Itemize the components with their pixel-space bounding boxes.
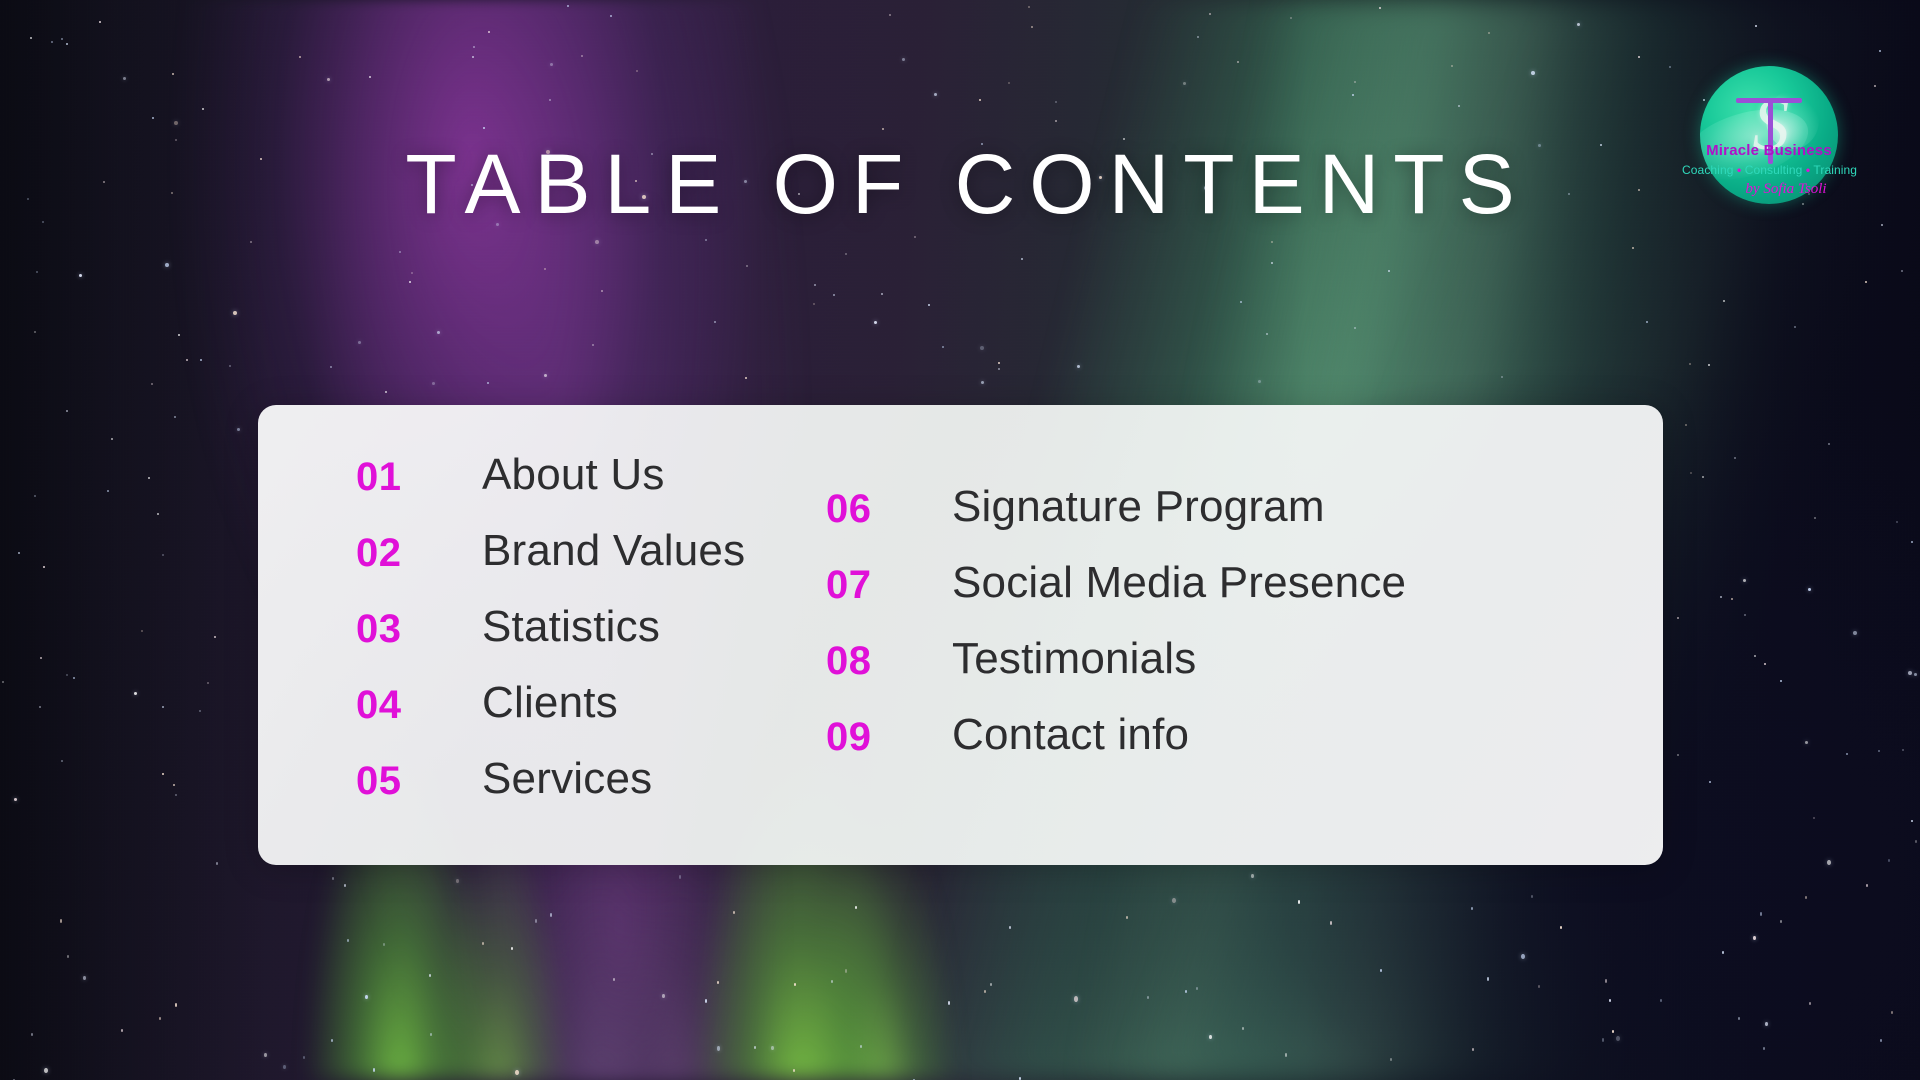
star	[1354, 327, 1356, 329]
toc-item-label: Services	[482, 757, 652, 801]
star	[793, 1069, 795, 1072]
star	[1723, 300, 1725, 302]
star	[432, 382, 435, 385]
star	[1298, 900, 1300, 903]
star	[845, 253, 847, 255]
star	[1330, 921, 1332, 924]
star	[544, 374, 547, 377]
star	[162, 554, 164, 556]
star	[1451, 65, 1453, 67]
star	[175, 794, 177, 796]
star	[1240, 301, 1242, 303]
toc-item-number: 03	[356, 609, 402, 649]
star	[1632, 247, 1634, 249]
star	[175, 1003, 177, 1006]
star	[40, 657, 42, 659]
star	[34, 331, 36, 333]
star	[178, 334, 180, 336]
star	[882, 128, 884, 130]
star	[365, 995, 368, 999]
star	[1605, 979, 1607, 982]
star	[66, 674, 68, 676]
star	[1612, 1030, 1614, 1033]
brand-logo[interactable]: S Miracle Business Coaching • Consulting…	[1700, 66, 1838, 204]
star	[437, 331, 440, 334]
star	[1764, 663, 1766, 665]
star	[1765, 1022, 1768, 1026]
star	[173, 784, 175, 786]
star	[44, 1068, 48, 1073]
star	[990, 983, 992, 986]
star	[1251, 874, 1254, 878]
star	[1209, 13, 1211, 15]
star	[1271, 241, 1273, 243]
star	[79, 274, 82, 277]
star	[152, 117, 154, 119]
star	[399, 251, 401, 253]
star	[482, 942, 484, 945]
star	[1471, 907, 1473, 910]
star	[1888, 859, 1890, 862]
toc-item-label: Social Media Presence	[952, 561, 1406, 605]
logo-tagline-separator-1: •	[1737, 163, 1741, 177]
star	[330, 366, 332, 368]
star	[1866, 884, 1868, 887]
star	[567, 5, 569, 7]
star	[1813, 817, 1815, 819]
star	[237, 428, 240, 431]
star	[473, 46, 475, 48]
star	[998, 362, 1000, 364]
star	[1560, 926, 1562, 929]
star	[1488, 32, 1490, 34]
star	[610, 15, 612, 17]
star	[186, 359, 188, 361]
star	[34, 495, 36, 497]
star	[409, 281, 411, 283]
logo-brand-name: Miracle Business	[1700, 142, 1838, 159]
star	[31, 1033, 33, 1036]
star	[202, 108, 204, 110]
star	[1902, 749, 1904, 751]
star	[1258, 380, 1261, 383]
star	[979, 99, 981, 101]
star	[1538, 985, 1540, 988]
star	[705, 999, 707, 1002]
star	[1738, 1017, 1740, 1020]
star	[595, 240, 599, 244]
toc-item-label: Statistics	[482, 605, 660, 649]
star	[30, 37, 32, 39]
star	[980, 346, 984, 350]
toc-item-number: 07	[826, 565, 872, 605]
star	[1008, 82, 1010, 84]
star	[1709, 781, 1711, 783]
star	[550, 63, 553, 66]
star	[754, 1046, 756, 1049]
star	[229, 365, 231, 367]
star	[1501, 376, 1503, 378]
star	[159, 1017, 161, 1020]
star	[1472, 1048, 1474, 1051]
star	[1891, 1011, 1893, 1014]
star	[151, 383, 153, 385]
toc-item-label: Testimonials	[952, 637, 1197, 681]
star	[383, 943, 385, 946]
star	[487, 382, 489, 384]
star	[456, 879, 459, 883]
star	[283, 1065, 286, 1069]
star	[1183, 82, 1186, 85]
star	[61, 38, 63, 40]
star	[18, 552, 20, 554]
toc-item-number: 09	[826, 717, 872, 757]
star	[1828, 443, 1830, 445]
star	[1908, 671, 1912, 675]
star	[1390, 1058, 1392, 1061]
star	[1702, 476, 1704, 478]
star	[1689, 363, 1691, 365]
toc-item-number: 06	[826, 489, 872, 529]
star	[1720, 596, 1722, 598]
star	[331, 1039, 333, 1042]
star	[1763, 1047, 1765, 1050]
star	[1487, 977, 1489, 980]
star	[36, 271, 38, 273]
star	[207, 682, 209, 684]
star	[1915, 840, 1917, 843]
star	[111, 438, 113, 440]
star	[874, 321, 877, 324]
star	[1185, 990, 1187, 993]
star	[165, 263, 169, 267]
star	[981, 381, 984, 384]
star	[1780, 920, 1782, 923]
star	[833, 294, 835, 296]
star	[1846, 753, 1848, 755]
star	[162, 773, 164, 775]
star	[66, 410, 68, 412]
star	[411, 272, 413, 274]
star	[1031, 26, 1033, 28]
logo-tagline-separator-2: •	[1806, 163, 1810, 177]
star	[1602, 1038, 1604, 1041]
star	[214, 636, 216, 638]
star	[1690, 472, 1692, 474]
star	[83, 976, 86, 980]
star	[1055, 101, 1057, 103]
star	[1638, 56, 1640, 58]
logo-byline: by Sofia Tsoli	[1700, 181, 1872, 198]
star	[1521, 954, 1525, 959]
star	[373, 1068, 375, 1071]
star	[1009, 926, 1011, 929]
star	[51, 41, 53, 43]
star	[714, 321, 716, 323]
star	[705, 239, 707, 241]
star	[1458, 105, 1460, 107]
star	[369, 76, 371, 78]
star	[1074, 996, 1078, 1001]
star	[1379, 7, 1381, 9]
star	[107, 490, 109, 492]
star	[1911, 541, 1913, 543]
star	[61, 760, 63, 762]
star	[162, 706, 164, 708]
star	[831, 980, 833, 983]
star	[1744, 614, 1746, 616]
star	[948, 1001, 950, 1004]
star	[1865, 281, 1867, 283]
star	[483, 127, 485, 129]
star	[679, 875, 681, 878]
star	[1901, 270, 1903, 272]
star	[1809, 1002, 1811, 1005]
page-title: TABLE OF CONTENTS	[0, 142, 1920, 226]
star	[662, 994, 665, 998]
toc-item-label: About Us	[482, 453, 665, 497]
star	[1669, 66, 1671, 68]
star	[515, 1070, 519, 1075]
star	[66, 43, 68, 45]
star	[303, 1056, 305, 1059]
star	[332, 877, 334, 880]
star	[1677, 617, 1679, 619]
star	[172, 73, 174, 75]
toc-item-label: Brand Values	[482, 529, 745, 573]
star	[984, 990, 986, 993]
star	[1616, 1036, 1620, 1041]
star	[73, 677, 75, 679]
toc-item-label: Clients	[482, 681, 618, 725]
star	[1874, 85, 1876, 87]
star	[1660, 999, 1662, 1002]
star	[794, 983, 796, 986]
star	[733, 911, 735, 914]
star	[175, 139, 177, 141]
star	[845, 969, 847, 972]
star	[199, 710, 201, 712]
star	[174, 416, 176, 418]
star	[347, 939, 349, 942]
star	[264, 1053, 267, 1057]
star	[488, 31, 490, 33]
star	[327, 78, 330, 81]
star	[429, 974, 431, 977]
star	[344, 884, 346, 887]
star	[385, 391, 387, 393]
star	[1814, 517, 1816, 519]
star	[43, 566, 45, 568]
toc-item-number: 08	[826, 641, 872, 681]
star	[1734, 457, 1736, 459]
star	[1055, 120, 1057, 122]
star	[1646, 321, 1648, 323]
star	[1352, 94, 1354, 96]
table-of-contents-card: 01About Us02Brand Values03Statistics04Cl…	[258, 405, 1663, 865]
star	[358, 341, 361, 344]
toc-item-label: Signature Program	[952, 485, 1325, 529]
toc-item-number: 02	[356, 533, 402, 573]
star	[1209, 1035, 1212, 1039]
star	[1896, 521, 1898, 523]
star	[472, 56, 474, 58]
star	[1197, 36, 1199, 38]
star	[860, 1045, 862, 1048]
star	[746, 265, 748, 267]
star	[174, 121, 178, 125]
star	[814, 284, 816, 286]
star	[1077, 365, 1080, 368]
star	[216, 862, 218, 865]
star	[1760, 912, 1762, 915]
toc-item-number: 04	[356, 685, 402, 725]
star	[14, 798, 17, 801]
star	[1388, 270, 1390, 272]
star	[1780, 680, 1782, 682]
star	[250, 241, 252, 243]
star	[881, 293, 883, 295]
star	[1805, 741, 1808, 744]
star	[1531, 71, 1535, 75]
star	[1914, 673, 1917, 676]
star	[813, 303, 815, 305]
star	[928, 304, 930, 306]
star	[99, 21, 101, 23]
star	[1879, 50, 1881, 52]
star	[549, 99, 551, 101]
star	[942, 346, 944, 348]
star	[581, 55, 583, 57]
star	[1755, 25, 1757, 27]
star	[1794, 326, 1796, 328]
star	[299, 56, 301, 58]
star	[121, 1029, 123, 1032]
toc-item-label: Contact info	[952, 713, 1189, 757]
star	[771, 1046, 774, 1050]
star	[1754, 655, 1756, 657]
star	[233, 311, 237, 315]
star	[511, 947, 513, 950]
logo-tagline: Coaching • Consulting • Training	[1682, 163, 1856, 177]
star	[1708, 364, 1710, 366]
star	[1805, 896, 1807, 899]
star	[717, 981, 719, 984]
toc-item-number: 01	[356, 457, 402, 497]
star	[1021, 258, 1023, 260]
logo-tagline-coaching: Coaching	[1682, 163, 1734, 177]
star	[60, 919, 62, 922]
star	[2, 681, 4, 683]
star	[1731, 598, 1733, 600]
star	[1722, 951, 1724, 954]
star	[914, 236, 916, 238]
star	[745, 377, 747, 379]
presentation-slide: TABLE OF CONTENTS S Miracle Business Coa…	[0, 0, 1920, 1080]
star	[1290, 17, 1292, 19]
star	[1911, 820, 1913, 822]
star	[1853, 631, 1857, 635]
logo-tagline-consulting: Consulting	[1745, 163, 1803, 177]
star	[1827, 860, 1831, 865]
star	[902, 58, 905, 61]
star	[148, 477, 150, 479]
star	[1196, 987, 1198, 990]
star	[535, 919, 537, 922]
star	[998, 368, 1000, 370]
star	[1242, 1027, 1244, 1030]
star	[613, 978, 615, 981]
star	[430, 1033, 432, 1036]
star	[200, 359, 202, 361]
star	[1609, 999, 1611, 1002]
star	[1743, 579, 1746, 582]
star	[1808, 588, 1811, 591]
star	[934, 93, 937, 96]
star	[141, 630, 143, 632]
star	[601, 290, 603, 292]
star	[1172, 898, 1176, 903]
star	[889, 14, 891, 16]
star	[157, 513, 159, 515]
star	[855, 906, 857, 909]
star	[544, 268, 546, 270]
star	[1126, 916, 1128, 919]
star	[1878, 750, 1880, 752]
star	[1028, 6, 1030, 8]
star	[39, 706, 41, 708]
star	[636, 70, 638, 72]
star	[1147, 996, 1149, 999]
star	[1753, 936, 1756, 940]
star	[1685, 424, 1687, 426]
star	[550, 913, 552, 916]
star	[1285, 1053, 1287, 1056]
star	[1677, 754, 1679, 756]
star	[717, 1046, 720, 1050]
star	[1531, 895, 1533, 898]
star	[1380, 969, 1382, 972]
star	[1880, 1039, 1882, 1042]
star	[1354, 81, 1356, 83]
toc-item-number: 05	[356, 761, 402, 801]
star	[1266, 333, 1268, 335]
star	[1577, 23, 1580, 26]
logo-tagline-training: Training	[1813, 163, 1857, 177]
star	[1271, 262, 1273, 264]
star	[134, 692, 137, 695]
star	[123, 77, 126, 80]
star	[1237, 61, 1239, 63]
star	[592, 344, 594, 346]
star	[67, 955, 69, 958]
